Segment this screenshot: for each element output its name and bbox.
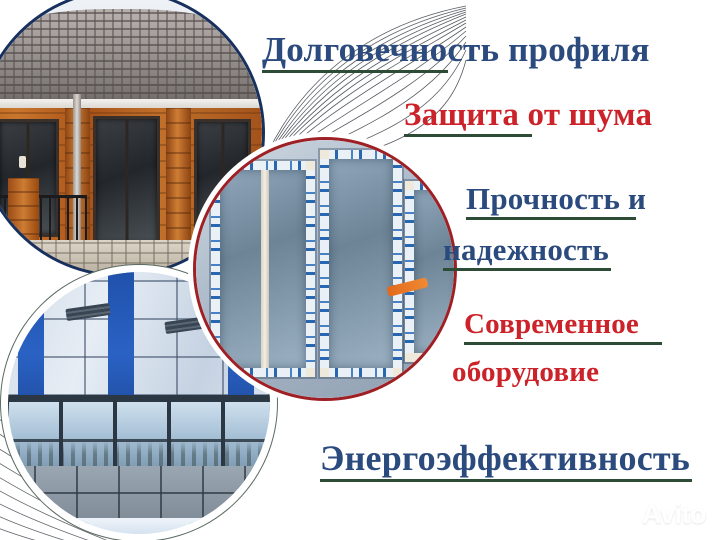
veka-protective-film (393, 159, 402, 368)
avito-wordmark: Avito (642, 499, 706, 530)
slogan-energy-efficiency: Энергоэффективность (320, 440, 692, 482)
slogan-modern: Современное (464, 310, 662, 345)
veka-protective-film (405, 190, 414, 353)
slogan-equipment: оборудовие (452, 358, 599, 388)
tiled-roof (0, 9, 262, 111)
house-window (93, 116, 161, 246)
veka-windows-image (196, 140, 454, 398)
slogan-underline (262, 70, 448, 73)
slogan-text: Прочность и (466, 183, 646, 215)
slogan-text: Долговечность профиля (262, 32, 650, 68)
slogan-text: надежность (443, 234, 611, 266)
granite-plinth (8, 466, 270, 524)
slogan-text: оборудовие (452, 358, 599, 388)
veka-protective-film (220, 368, 305, 377)
veka-protective-film (306, 170, 315, 369)
slogan-reliability: надежность (443, 234, 611, 271)
slogan-durability: Долговечность профиля (262, 32, 650, 73)
slogan-text: Энергоэффективность (320, 440, 692, 477)
slogan-text: Современное (464, 310, 662, 340)
veka-protective-film (329, 150, 394, 159)
slogan-underline (464, 342, 662, 345)
slogan-underline (320, 479, 692, 482)
slogan-underline (466, 217, 636, 220)
slogan-text: Защита от шума (404, 98, 652, 132)
avito-dots-icon (611, 502, 637, 528)
pvc-window-unit (211, 161, 314, 378)
veka-protective-film (220, 161, 305, 170)
snow-ground (8, 518, 270, 534)
avito-watermark: Avito (611, 499, 706, 530)
window-mullion (125, 119, 128, 243)
slogan-noise-protection: Защита от шума (404, 98, 652, 137)
photo-circle-veka-windows (196, 140, 454, 398)
slogan-underline (443, 268, 611, 271)
veka-protective-film (211, 170, 220, 369)
veka-protective-film (414, 181, 454, 190)
pvc-window-unit (405, 181, 454, 362)
pvc-window-unit (320, 150, 403, 377)
veka-protective-film (329, 368, 394, 377)
slogan-strength: Прочность и (466, 183, 646, 220)
wall-lamp (19, 156, 26, 168)
window-mullion (261, 170, 269, 369)
poster-canvas: Долговечность профиля Защита от шума Про… (0, 0, 720, 540)
slogan-underline (404, 134, 532, 137)
veka-protective-film (320, 159, 329, 368)
